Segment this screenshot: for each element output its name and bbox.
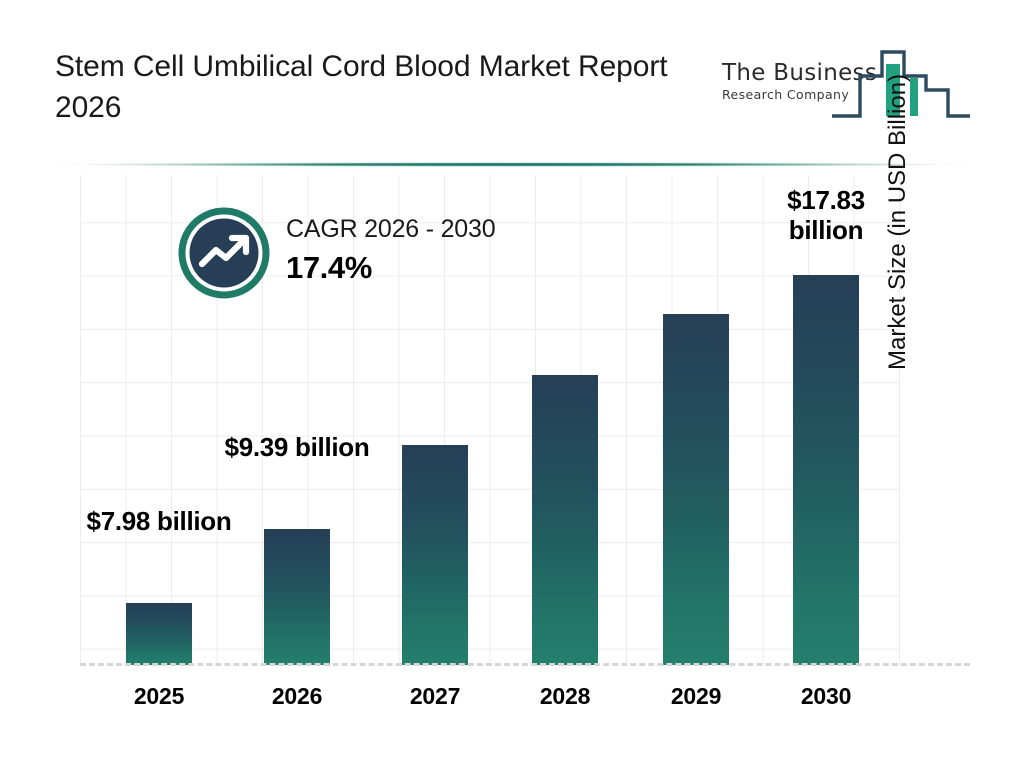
cagr-value: 17.4% [286,250,495,286]
bar-fill [126,603,192,665]
bar-2025[interactable] [126,603,192,665]
value-label-2026: $9.39 billion [222,432,372,462]
x-label-2029: 2029 [621,683,771,710]
bar-fill [532,375,598,665]
bar-2028[interactable] [532,375,598,665]
bar-2027[interactable] [402,445,468,665]
bar-fill [663,314,729,665]
bar-2030[interactable] [793,275,859,665]
bar-fill [793,275,859,665]
bar-fill [402,445,468,665]
bar-2026[interactable] [264,529,330,665]
cagr-badge: CAGR 2026 - 2030 17.4% [178,207,598,317]
x-label-2026: 2026 [222,683,372,710]
cagr-range-label: CAGR 2026 - 2030 [286,215,495,244]
plot-area: $7.98 billion $9.39 billion $17.83 billi… [80,175,900,665]
axis-baseline [80,663,970,666]
header-divider [42,162,982,167]
bar-2029[interactable] [663,314,729,665]
bar-chart: $7.98 billion $9.39 billion $17.83 billi… [0,170,1024,768]
x-label-2025: 2025 [84,683,234,710]
trending-up-icon [178,207,270,299]
header: Stem Cell Umbilical Cord Blood Market Re… [0,0,1024,152]
value-label-2030: $17.83 billion [751,185,901,245]
company-logo: The Business Research Company [722,32,972,132]
bar-fill [264,529,330,665]
value-label-2025: $7.98 billion [84,506,234,536]
cagr-text-group: CAGR 2026 - 2030 17.4% [286,215,495,286]
x-label-2030: 2030 [751,683,901,710]
x-label-2027: 2027 [360,683,510,710]
y-axis-title: Market Size (in USD Billion) [884,0,912,370]
page-title: Stem Cell Umbilical Cord Blood Market Re… [55,46,715,129]
x-label-2028: 2028 [490,683,640,710]
